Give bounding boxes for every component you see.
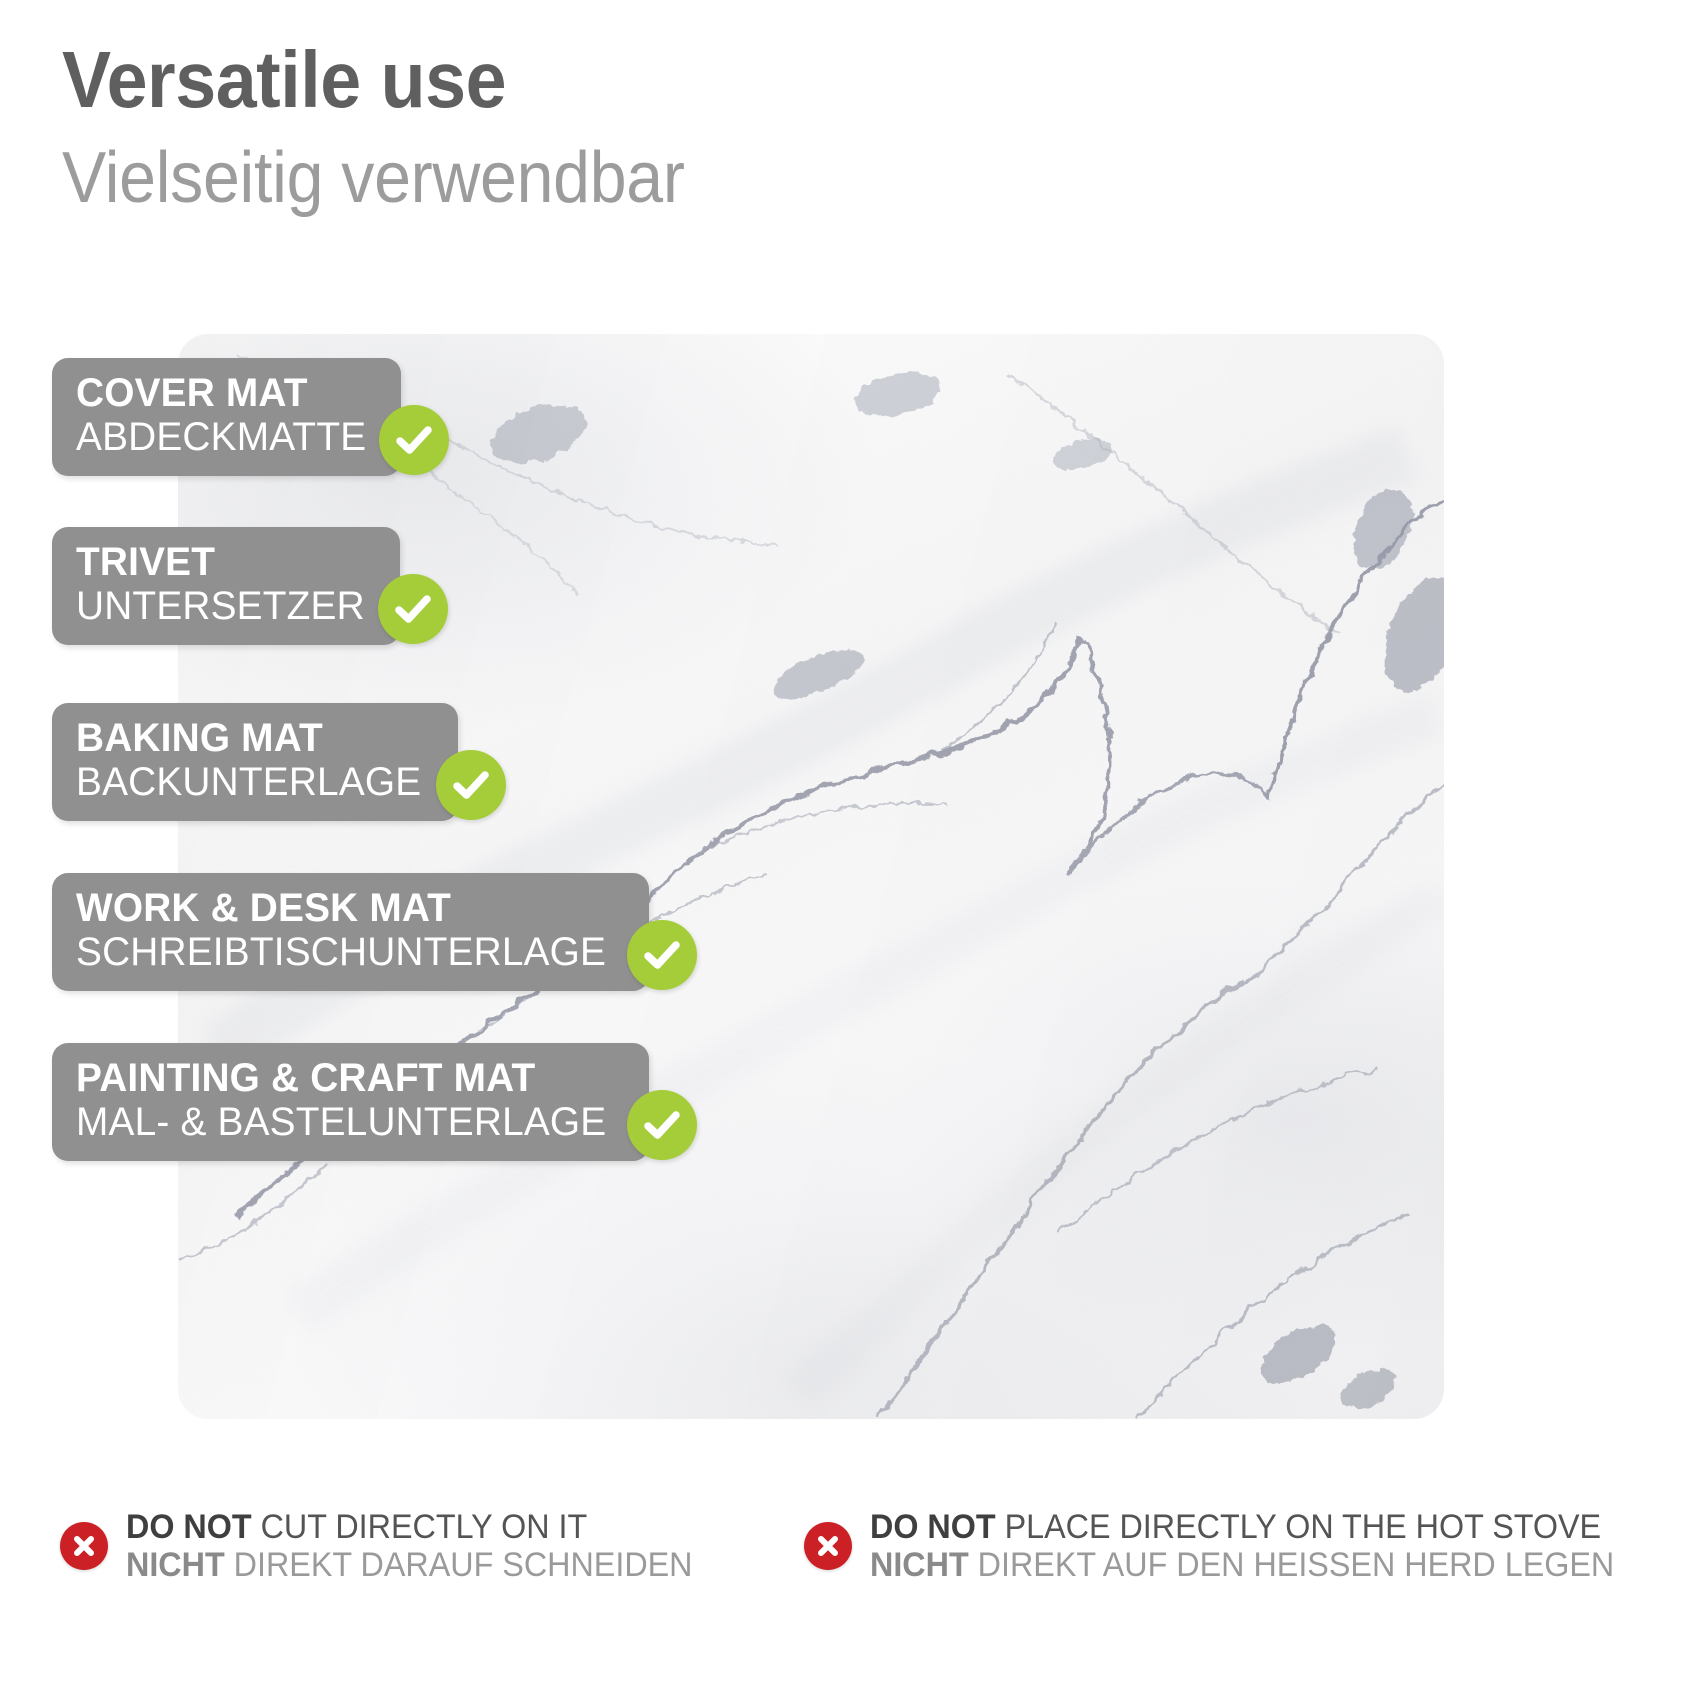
feature-row-work-desk-mat[interactable]: WORK & DESK MAT SCHREIBTISCHUNTERLAGE	[52, 873, 697, 991]
warning-line-de: NICHT DIREKT AUF DEN HEISSEN HERD LEGEN	[870, 1546, 1614, 1584]
feature-badge: BAKING MAT BACKUNTERLAGE	[52, 703, 458, 821]
warning-en-rest: PLACE DIRECTLY ON THE HOT STOVE	[996, 1508, 1601, 1546]
x-icon	[804, 1522, 852, 1570]
feature-label-de: MAL- & BASTELUNTERLAGE	[76, 1100, 606, 1145]
warning-de-rest: DIREKT AUF DEN HEISSEN HERD LEGEN	[969, 1546, 1615, 1584]
feature-label-de: SCHREIBTISCHUNTERLAGE	[76, 930, 606, 975]
check-icon	[436, 750, 506, 820]
warning-text: DO NOT PLACE DIRECTLY ON THE HOT STOVE N…	[870, 1508, 1653, 1584]
warning-de-emphasis: NICHT	[870, 1546, 969, 1584]
feature-label-de: BACKUNTERLAGE	[76, 760, 421, 805]
warning-de-emphasis: NICHT	[126, 1546, 225, 1584]
warning-no-cutting: DO NOT CUT DIRECTLY ON IT NICHT DIREKT D…	[60, 1508, 722, 1584]
warning-line-en: DO NOT PLACE DIRECTLY ON THE HOT STOVE	[870, 1508, 1614, 1546]
warning-line-de: NICHT DIREKT DARAUF SCHNEIDEN	[126, 1546, 693, 1584]
feature-badge: TRIVET UNTERSETZER	[52, 527, 400, 645]
feature-badge: COVER MAT ABDECKMATTE	[52, 358, 401, 476]
feature-row-painting-craft-mat[interactable]: PAINTING & CRAFT MAT MAL- & BASTELUNTERL…	[52, 1043, 697, 1161]
feature-label-en: BAKING MAT	[76, 717, 421, 760]
warning-de-rest: DIREKT DARAUF SCHNEIDEN	[225, 1546, 693, 1584]
warning-no-hot-stove: DO NOT PLACE DIRECTLY ON THE HOT STOVE N…	[804, 1508, 1653, 1584]
feature-label-de: ABDECKMATTE	[76, 415, 366, 460]
warning-list: DO NOT CUT DIRECTLY ON IT NICHT DIREKT D…	[60, 1508, 1650, 1584]
feature-label-en: COVER MAT	[76, 372, 366, 415]
check-icon	[378, 574, 448, 644]
warning-en-emphasis: DO NOT	[870, 1508, 996, 1546]
feature-row-baking-mat[interactable]: BAKING MAT BACKUNTERLAGE	[52, 703, 506, 821]
feature-badge: PAINTING & CRAFT MAT MAL- & BASTELUNTERL…	[52, 1043, 649, 1161]
check-icon	[627, 920, 697, 990]
feature-badge: WORK & DESK MAT SCHREIBTISCHUNTERLAGE	[52, 873, 649, 991]
warning-text: DO NOT CUT DIRECTLY ON IT NICHT DIREKT D…	[126, 1508, 722, 1584]
warning-en-emphasis: DO NOT	[126, 1508, 252, 1546]
feature-label-en: PAINTING & CRAFT MAT	[76, 1057, 606, 1100]
feature-row-cover-mat[interactable]: COVER MAT ABDECKMATTE	[52, 358, 449, 476]
check-icon	[627, 1090, 697, 1160]
warning-line-en: DO NOT CUT DIRECTLY ON IT	[126, 1508, 693, 1546]
feature-label-en: TRIVET	[76, 541, 365, 584]
feature-label-de: UNTERSETZER	[76, 584, 365, 629]
x-icon	[60, 1522, 108, 1570]
feature-list: COVER MAT ABDECKMATTE TRIVET UNTERSETZER…	[0, 0, 1704, 1704]
check-icon	[379, 405, 449, 475]
feature-row-trivet[interactable]: TRIVET UNTERSETZER	[52, 527, 448, 645]
feature-label-en: WORK & DESK MAT	[76, 887, 606, 930]
warning-en-rest: CUT DIRECTLY ON IT	[252, 1508, 588, 1546]
